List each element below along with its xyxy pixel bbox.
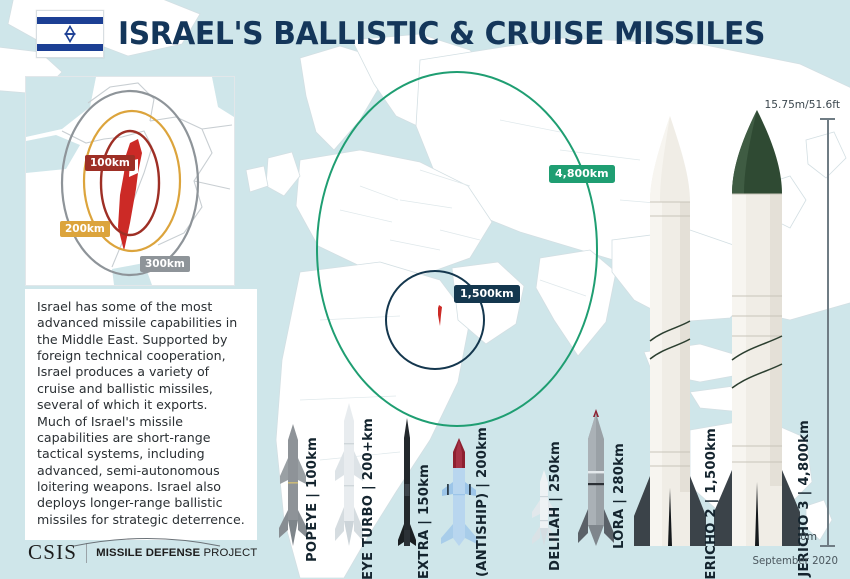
project-wordmark-bold: MISSILE DEFENSE xyxy=(96,547,200,559)
scale-zero-label: 0m xyxy=(800,531,817,543)
description-panel: Israel has some of the most advanced mis… xyxy=(25,289,257,540)
missile-jericho-2 xyxy=(634,116,706,546)
star-of-david-icon xyxy=(60,24,80,44)
missile-extra xyxy=(396,418,418,546)
inset-ring-label-100km: 100km xyxy=(85,155,135,171)
missile-label-popeye-turbo: POPEYE TURBO | 200+km xyxy=(361,418,376,579)
logo-arc-icon xyxy=(72,535,222,547)
page-title: ISRAEL'S BALLISTIC & CRUISE MISSILES xyxy=(118,16,765,52)
description-text: Israel has some of the most advanced mis… xyxy=(37,299,245,528)
missile-label-popeye: POPEYE | 100km xyxy=(305,437,320,562)
infographic-canvas: ISRAEL'S BALLISTIC & CRUISE MISSILES xyxy=(0,0,850,579)
range-badge-4800km: 4,800km xyxy=(549,165,615,183)
missile-label-lora: LORA | 280km xyxy=(612,443,627,549)
israel-flag-icon xyxy=(36,10,104,58)
inset-ring-label-300km: 300km xyxy=(140,256,190,272)
date-stamp: September 2020 xyxy=(753,556,838,567)
missile-lora xyxy=(578,409,614,546)
header: ISRAEL'S BALLISTIC & CRUISE MISSILES xyxy=(36,10,792,58)
inset-ring-label-200km: 200km xyxy=(60,221,110,237)
project-wordmark: MISSILE DEFENSE PROJECT xyxy=(96,547,257,559)
regional-range-inset-map xyxy=(25,76,235,286)
scale-top-label: 15.75m/51.6ft xyxy=(764,99,840,111)
missile-label-extra: EXTRA | 150km xyxy=(417,464,432,579)
csis-logo: CSIS MISSILE DEFENSE PROJECT xyxy=(28,540,257,565)
missile-label-delilah: DELILAH | 250km xyxy=(548,441,563,571)
missile-jericho-3 xyxy=(714,110,800,546)
missile-label-jericho-3: JERICHO 3 | 4,800km xyxy=(797,420,812,577)
missile-label-gabriel: GABRIEL (ANTISHIP) | 200km xyxy=(475,427,490,579)
missile-popeye-turbo xyxy=(334,403,364,546)
range-badge-1500km: 1,500km xyxy=(454,285,520,303)
missile-gabriel-antiship xyxy=(440,438,478,546)
project-wordmark-light: PROJECT xyxy=(200,547,257,559)
range-ring-4800km xyxy=(316,71,598,427)
israel-marker-icon xyxy=(436,305,444,327)
missile-label-jericho-2: JERICHO 2 | 1,500km xyxy=(704,428,719,579)
csis-wordmark: CSIS xyxy=(28,540,77,565)
missile-popeye xyxy=(278,424,308,546)
